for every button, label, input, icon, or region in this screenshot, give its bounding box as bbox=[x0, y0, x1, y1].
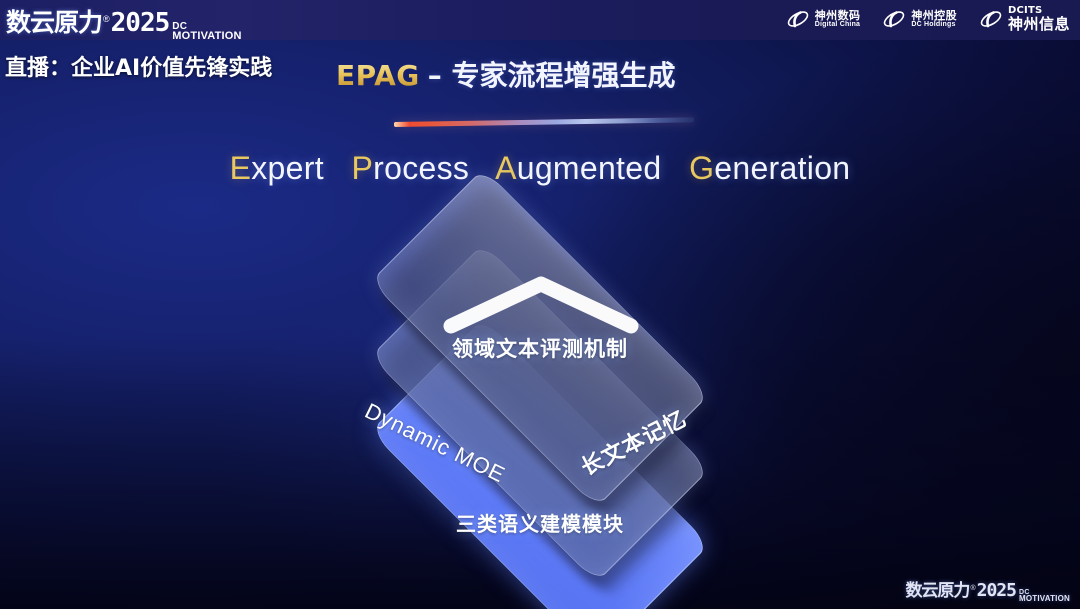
logo-dc-holdings-cn: 神州控股 bbox=[911, 10, 957, 22]
word-expert: Expert bbox=[230, 150, 324, 186]
logo-digital-china: 神州数码 Digital China bbox=[786, 8, 861, 30]
title-subtitle-cn: – 专家流程增强生成 bbox=[428, 59, 676, 92]
word-augmented: Augmented bbox=[495, 150, 661, 186]
word-augmented-initial: A bbox=[495, 150, 517, 186]
brand-year: 2025 bbox=[111, 8, 170, 38]
title-acronym: EPAG bbox=[336, 59, 420, 92]
swirl-logo-icon bbox=[882, 8, 906, 30]
word-expert-initial: E bbox=[230, 150, 252, 186]
logo-dc-holdings: 神州控股 DC Holdings bbox=[882, 8, 957, 30]
word-process: Process bbox=[352, 150, 470, 186]
logo-digital-china-en: Digital China bbox=[815, 21, 861, 28]
word-expert-rest: xpert bbox=[251, 150, 324, 186]
logo-dcits: DCITS 神州信息 bbox=[979, 6, 1070, 32]
brand-dc-motivation: DC MOTIVATION bbox=[172, 22, 241, 42]
brand-name-cn: 数云原力 bbox=[6, 3, 102, 39]
footer-brand-dc-motivation: DC MOTIVATION bbox=[1019, 589, 1070, 603]
partner-logos: 神州数码 Digital China 神州控股 DC Holdings DCIT… bbox=[786, 6, 1070, 32]
logo-digital-china-text: 神州数码 Digital China bbox=[815, 10, 861, 29]
word-generation-rest: eneration bbox=[714, 150, 850, 186]
slide-canvas: 数云原力 ® 2025 DC MOTIVATION 直播：企业AI价值先锋实践 … bbox=[0, 0, 1080, 609]
brand-motivation-label: MOTIVATION bbox=[172, 31, 241, 42]
title-space-3 bbox=[671, 150, 680, 186]
word-augmented-rest: ugmented bbox=[517, 150, 662, 186]
word-process-initial: P bbox=[352, 150, 374, 186]
footer-brand-registered-mark: ® bbox=[970, 585, 975, 592]
logo-dcits-en: DCITS bbox=[1008, 6, 1070, 17]
slide-title: EPAG– 专家流程增强生成 bbox=[336, 54, 675, 94]
logo-dcits-cn: 神州信息 bbox=[1008, 17, 1070, 33]
brand-registered-mark: ® bbox=[103, 14, 110, 24]
title-space-1 bbox=[333, 150, 342, 186]
footer-brand-motivation-label: MOTIVATION bbox=[1019, 595, 1070, 603]
footer-brand-name-cn: 数云原力 bbox=[905, 576, 969, 601]
word-process-rest: rocess bbox=[373, 150, 469, 186]
title-english-expansion: Expert Process Augmented Generation bbox=[0, 150, 1080, 187]
word-generation-initial: G bbox=[689, 150, 714, 186]
logo-dc-holdings-text: 神州控股 DC Holdings bbox=[911, 10, 957, 29]
logo-digital-china-cn: 神州数码 bbox=[815, 10, 861, 22]
swirl-logo-icon bbox=[979, 8, 1003, 30]
footer-brand-watermark: 数云原力 ® 2025 DC MOTIVATION bbox=[905, 576, 1070, 605]
word-generation: Generation bbox=[689, 150, 850, 186]
header-brand-logo: 数云原力 ® 2025 DC MOTIVATION bbox=[6, 3, 242, 35]
swirl-logo-icon bbox=[786, 8, 810, 30]
logo-dc-holdings-en: DC Holdings bbox=[911, 21, 957, 28]
logo-dcits-text: DCITS 神州信息 bbox=[1008, 6, 1070, 32]
footer-brand-year: 2025 bbox=[977, 580, 1016, 601]
live-stream-label: 直播：企业AI价值先锋实践 bbox=[5, 50, 272, 82]
